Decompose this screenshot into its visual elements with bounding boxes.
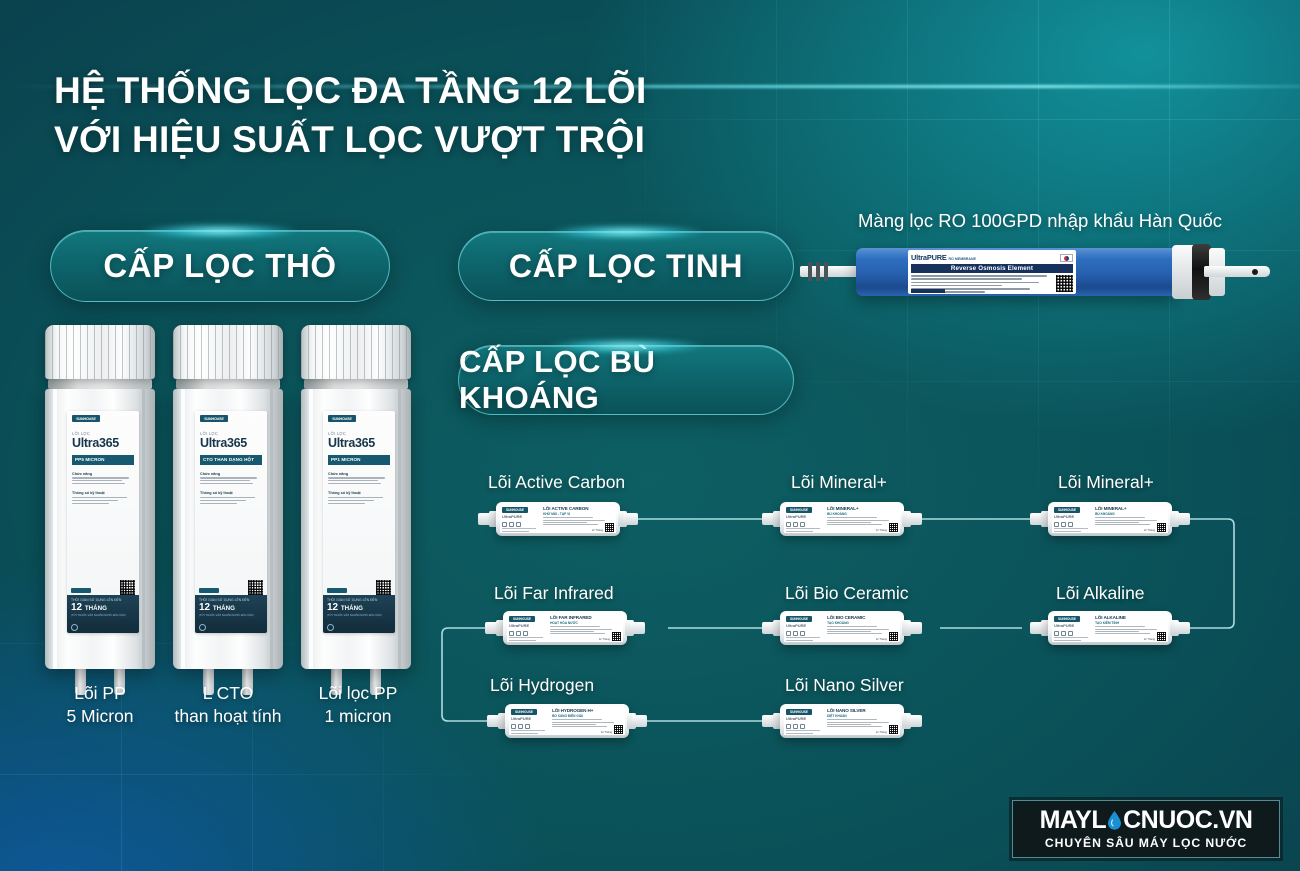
ro-qr-code-icon — [1056, 275, 1073, 292]
housing-caption: Lõi PP 5 Micron — [45, 682, 155, 728]
ro-membrane-caption: Màng lọc RO 100GPD nhập khẩu Hàn Quốc — [858, 210, 1222, 232]
cartridge-name: LÕI MINERAL+ — [827, 507, 898, 512]
cartridge-subtitle: KHỬ MÙI - TẠP VỊ — [543, 512, 614, 516]
cartridge-label: SUNHOUSE UltraPURE LÕI ALKALINE TẠO KIỀM… — [1052, 614, 1168, 642]
cartridge-tip-right — [907, 513, 922, 525]
series-name: UltraPURE — [786, 514, 824, 519]
housing-qr-code-icon — [248, 580, 263, 595]
cartridge-mineral-plus-1: SUNHOUSE UltraPURE LÕI MINERAL+ BÙ KHOÁN… — [762, 502, 922, 536]
cartridge-qr-code-icon — [605, 523, 614, 532]
cartridge-name: LÕI FAR INFRARED — [550, 616, 621, 621]
housing-type-band: PP5 MICRON — [72, 455, 134, 465]
housing-neck — [304, 379, 408, 389]
housing-cartridge: SUNHOUSE LÕI LỌC Ultra365 CTO THAN DẠNG … — [173, 325, 283, 695]
ro-stem-right — [1204, 266, 1270, 277]
warranty-duration: 12 THÁNG — [327, 603, 391, 613]
cartridge-qr-code-icon — [1157, 632, 1166, 641]
ro-label-footer — [911, 289, 945, 293]
warranty-note: (TÙY THUỘC VÀO NGUỒN NƯỚC ĐẦU VÀO) — [199, 614, 263, 617]
cartridge-far-infrared: SUNHOUSE UltraPURE LÕI FAR INFRARED HOẠT… — [485, 611, 645, 645]
sunhouse-brand-badge: SUNHOUSE — [511, 709, 537, 715]
cartridge-label: SUNHOUSE UltraPURE LÕI FAR INFRARED HOẠT… — [507, 614, 623, 642]
housing-body: SUNHOUSE LÕI LỌC Ultra365 PP5 MICRON Chứ… — [45, 389, 155, 669]
cartridge-qr-code-icon — [612, 632, 621, 641]
logo-text-part1: MAYL — [1040, 808, 1107, 833]
series-name: UltraPURE — [786, 623, 824, 628]
cartridge-caption: Lõi Alkaline — [1056, 583, 1145, 604]
cartridge-qr-code-icon — [1157, 523, 1166, 532]
housing-warranty-block: THỜI GIAN SỬ DỤNG LÊN ĐẾN 12 THÁNG (TÙY … — [67, 595, 139, 633]
cartridge-label: SUNHOUSE UltraPURE LÕI BIO CERAMIC TẠO K… — [784, 614, 900, 642]
feature-icon — [525, 724, 530, 729]
series-name: UltraPURE — [509, 623, 547, 628]
cartridge-caption: Lõi Far Infrared — [494, 583, 614, 604]
feature-icon — [793, 724, 798, 729]
housing-caption-line-1: L CTO — [155, 682, 301, 705]
site-logo[interactable]: MAYL CNUOC.VN CHUYÊN SÂU MÁY LỌC NƯỚC — [1012, 800, 1280, 858]
ro-type-bar: Reverse Osmosis Element — [911, 264, 1073, 273]
housing-caption-line-1: Lõi lọc PP — [301, 682, 415, 705]
cartridge-tip-right — [1175, 513, 1190, 525]
cartridge-lifespan: 12 Tháng — [876, 638, 887, 641]
sunhouse-brand-badge: SUNHOUSE — [200, 415, 228, 422]
feature-icon — [800, 724, 805, 729]
cartridge-label: SUNHOUSE UltraPURE LÕI MINERAL+ BÙ KHOÁN… — [784, 505, 900, 533]
housing-warranty-block: THỜI GIAN SỬ DỤNG LÊN ĐẾN 12 THÁNG (TÙY … — [323, 595, 395, 633]
feature-icon — [523, 631, 528, 636]
cartridge-caption: Lõi Hydrogen — [490, 675, 594, 696]
page-title-line-1: HỆ THỐNG LỌC ĐA TẦNG 12 LÕI — [54, 66, 754, 115]
badge-coarse-filtration: CẤP LỌC THÔ — [50, 230, 390, 302]
cartridge-mineral-plus-2: SUNHOUSE UltraPURE LÕI MINERAL+ BÙ KHOÁN… — [1030, 502, 1190, 536]
housing-type-band: PP1 MICRON — [328, 455, 390, 465]
cartridge-bio-ceramic: SUNHOUSE UltraPURE LÕI BIO CERAMIC TẠO K… — [762, 611, 922, 645]
sunhouse-brand-badge: SUNHOUSE — [786, 709, 812, 715]
seal-icon — [71, 624, 78, 631]
series-name: UltraPURE — [1054, 514, 1092, 519]
cartridge-name: LÕI BIO CERAMIC — [827, 616, 898, 621]
cartridge-lifespan: 12 Tháng — [876, 529, 887, 532]
cartridge-tip-right — [907, 622, 922, 634]
series-name: UltraPURE — [786, 716, 824, 721]
cartridge-qr-code-icon — [889, 632, 898, 641]
cartridge-tip-right — [1175, 622, 1190, 634]
warranty-note: (TÙY THUỘC VÀO NGUỒN NƯỚC ĐẦU VÀO) — [71, 614, 135, 617]
cartridge-lifespan: 12 Tháng — [601, 731, 612, 734]
housing-caption: Lõi lọc PP 1 micron — [301, 682, 415, 728]
cartridge-caption: Lõi Nano Silver — [785, 675, 904, 696]
logo-text-part2: CNUOC.VN — [1123, 808, 1252, 833]
housing-neck — [176, 379, 280, 389]
housing-sticker: SUNHOUSE LÕI LỌC Ultra365 PP1 MICRON Chứ… — [323, 411, 395, 633]
cartridge-caption: Lõi Mineral+ — [1058, 472, 1154, 493]
housing-sticker: SUNHOUSE LÕI LỌC Ultra365 CTO THAN DẠNG … — [195, 411, 267, 633]
housing-body: SUNHOUSE LÕI LỌC Ultra365 PP1 MICRON Chứ… — [301, 389, 411, 669]
cartridge-tip-right — [630, 622, 645, 634]
cartridge-lifespan: 12 Tháng — [1144, 638, 1155, 641]
cartridge-name: LÕI HYDROGEN H+ — [552, 709, 623, 714]
warranty-duration: 12 THÁNG — [199, 603, 263, 613]
cartridge-name: LÕI ALKALINE — [1095, 616, 1166, 621]
feature-icon — [786, 724, 791, 729]
cartridge-caption: Lõi Bio Ceramic — [785, 583, 909, 604]
water-drop-icon — [1107, 811, 1122, 830]
feature-icon — [1054, 631, 1059, 636]
feature-icon — [1061, 522, 1066, 527]
cartridge-lifespan: 12 Tháng — [599, 638, 610, 641]
cartridge-lifespan: 12 Tháng — [592, 529, 603, 532]
sunhouse-brand-badge: SUNHOUSE — [786, 507, 812, 513]
badge-coarse-label: CẤP LỌC THÔ — [103, 247, 336, 285]
housing-caption-line-1: Lõi PP — [45, 682, 155, 705]
housing-section-heading-2: Thông số kỹ thuật — [72, 491, 134, 495]
ro-membrane-image: UltraPURE RO MEMBRANE Reverse Osmosis El… — [800, 240, 1270, 302]
wire-right-u-turn — [1190, 519, 1234, 628]
infographic-canvas: HỆ THỐNG LỌC ĐA TẦNG 12 LÕI VỚI HIỆU SUẤ… — [0, 0, 1300, 871]
cartridge-nano-silver: SUNHOUSE UltraPURE LÕI NANO SILVER DIỆT … — [762, 704, 922, 738]
cartridge-caption: Lõi Active Carbon — [488, 472, 625, 493]
feature-icon — [1068, 522, 1073, 527]
housing-type-band: CTO THAN DẠNG HỘT — [200, 455, 262, 465]
cartridge-label: SUNHOUSE UltraPURE LÕI NANO SILVER DIỆT … — [784, 707, 900, 735]
ro-seal-ring — [824, 262, 828, 281]
cartridge-caption: Lõi Mineral+ — [791, 472, 887, 493]
ro-brand: UltraPURE RO MEMBRANE — [911, 253, 976, 262]
cartridge-tip-right — [632, 715, 647, 727]
housing-small-badge — [327, 588, 347, 593]
series-name: UltraPURE — [1054, 623, 1092, 628]
wire-left-u-turn — [442, 628, 487, 721]
feature-icon — [516, 522, 521, 527]
housing-cap — [45, 325, 155, 379]
housing-product-name: Ultra365 — [200, 437, 262, 450]
badge-mineral-label: CẤP LỌC BÙ KHOÁNG — [459, 344, 793, 416]
sunhouse-brand-badge: SUNHOUSE — [72, 415, 100, 422]
sunhouse-brand-badge: SUNHOUSE — [502, 507, 528, 513]
housing-caption-line-2: 1 micron — [301, 705, 415, 728]
feature-icon — [793, 522, 798, 527]
cartridge-name: LÕI MINERAL+ — [1095, 507, 1166, 512]
series-name: UltraPURE — [502, 514, 540, 519]
feature-icon — [800, 522, 805, 527]
feature-icon — [1068, 631, 1073, 636]
housing-section-heading-2: Thông số kỹ thuật — [328, 491, 390, 495]
cartridge-lifespan: 12 Tháng — [876, 731, 887, 734]
feature-icon — [511, 724, 516, 729]
warranty-note: (TÙY THUỘC VÀO NGUỒN NƯỚC ĐẦU VÀO) — [327, 614, 391, 617]
feature-icon — [518, 724, 523, 729]
feature-icon — [516, 631, 521, 636]
feature-icon — [1054, 522, 1059, 527]
housing-caption-line-2: than hoạt tính — [155, 705, 301, 728]
feature-icon — [509, 522, 514, 527]
cartridge-qr-code-icon — [889, 523, 898, 532]
cartridge-label: SUNHOUSE UltraPURE LÕI MINERAL+ BÙ KHOÁN… — [1052, 505, 1168, 533]
sunhouse-brand-badge: SUNHOUSE — [328, 415, 356, 422]
seal-icon — [327, 624, 334, 631]
cartridge-hydrogen: SUNHOUSE UltraPURE LÕI HYDROGEN H+ BỔ SU… — [487, 704, 647, 738]
ro-membrane-label: UltraPURE RO MEMBRANE Reverse Osmosis El… — [908, 250, 1076, 294]
housing-section-heading-1: Chức năng — [72, 472, 134, 476]
cartridge-active-carbon: SUNHOUSE UltraPURE LÕI ACTIVE CARBON KHỬ… — [478, 502, 638, 536]
seal-icon — [199, 624, 206, 631]
feature-icon — [786, 522, 791, 527]
warranty-duration: 12 THÁNG — [71, 603, 135, 613]
housing-small-badge — [71, 588, 91, 593]
housing-product-name: Ultra365 — [328, 437, 390, 450]
badge-fine-filtration: CẤP LỌC TINH — [458, 231, 794, 301]
cartridge-label: SUNHOUSE UltraPURE LÕI HYDROGEN H+ BỔ SU… — [509, 707, 625, 735]
cartridge-subtitle: HOẠT HÓA NƯỚC — [550, 621, 621, 625]
page-title: HỆ THỐNG LỌC ĐA TẦNG 12 LÕI VỚI HIỆU SUẤ… — [54, 66, 754, 164]
housing-small-badge — [199, 588, 219, 593]
cartridge-qr-code-icon — [614, 725, 623, 734]
logo-wordmark: MAYL CNUOC.VN — [1040, 808, 1253, 833]
feature-icon — [786, 631, 791, 636]
housing-section-heading-1: Chức năng — [328, 472, 390, 476]
housing-cap — [173, 325, 283, 379]
cartridge-alkaline: SUNHOUSE UltraPURE LÕI ALKALINE TẠO KIỀM… — [1030, 611, 1190, 645]
cartridge-lifespan: 12 Tháng — [1144, 529, 1155, 532]
cartridge-tip-right — [623, 513, 638, 525]
badge-mineral-filtration: CẤP LỌC BÙ KHOÁNG — [458, 345, 794, 415]
sunhouse-brand-badge: SUNHOUSE — [786, 616, 812, 622]
ro-seal-ring — [816, 262, 820, 281]
feature-icon — [502, 522, 507, 527]
cartridge-subtitle: TẠO KHOÁNG — [827, 621, 898, 625]
page-title-line-2: VỚI HIỆU SUẤT LỌC VƯỢT TRỘI — [54, 115, 754, 164]
sunhouse-brand-badge: SUNHOUSE — [509, 616, 535, 622]
housing-sticker: SUNHOUSE LÕI LỌC Ultra365 PP5 MICRON Chứ… — [67, 411, 139, 633]
cartridge-name: LÕI NANO SILVER — [827, 709, 898, 714]
cartridge-subtitle: TẠO KIỀM TÍNH — [1095, 621, 1166, 625]
housing-product-name: Ultra365 — [72, 437, 134, 450]
housing-section-heading-1: Chức năng — [200, 472, 262, 476]
logo-tagline: CHUYÊN SÂU MÁY LỌC NƯỚC — [1045, 836, 1247, 850]
feature-icon — [509, 631, 514, 636]
cartridge-subtitle: DIỆT KHUẨN — [827, 714, 898, 718]
housing-cap — [301, 325, 411, 379]
housing-cartridge: SUNHOUSE LÕI LỌC Ultra365 PP5 MICRON Chứ… — [45, 325, 155, 695]
housing-section-heading-2: Thông số kỹ thuật — [200, 491, 262, 495]
badge-fine-label: CẤP LỌC TINH — [509, 248, 743, 285]
cartridge-label: SUNHOUSE UltraPURE LÕI ACTIVE CARBON KHỬ… — [500, 505, 616, 533]
housing-qr-code-icon — [120, 580, 135, 595]
housing-caption-line-2: 5 Micron — [45, 705, 155, 728]
housing-caption: L CTO than hoạt tính — [155, 682, 301, 728]
feature-icon — [1061, 631, 1066, 636]
housing-body: SUNHOUSE LÕI LỌC Ultra365 CTO THAN DẠNG … — [173, 389, 283, 669]
cartridge-subtitle: BÙ KHOÁNG — [827, 512, 898, 516]
cartridge-qr-code-icon — [889, 725, 898, 734]
housing-cartridge: SUNHOUSE LÕI LỌC Ultra365 PP1 MICRON Chứ… — [301, 325, 411, 695]
sunhouse-brand-badge: SUNHOUSE — [1054, 507, 1080, 513]
feature-icon — [800, 631, 805, 636]
feature-icon — [793, 631, 798, 636]
ro-seal-ring — [808, 262, 812, 281]
korea-flag-icon — [1060, 254, 1073, 262]
housing-neck — [48, 379, 152, 389]
cartridge-subtitle: BÙ KHOÁNG — [1095, 512, 1166, 516]
sunhouse-brand-badge: SUNHOUSE — [1054, 616, 1080, 622]
housing-warranty-block: THỜI GIAN SỬ DỤNG LÊN ĐẾN 12 THÁNG (TÙY … — [195, 595, 267, 633]
cartridge-tip-right — [907, 715, 922, 727]
cartridge-name: LÕI ACTIVE CARBON — [543, 507, 614, 512]
series-name: UltraPURE — [511, 716, 549, 721]
housing-qr-code-icon — [376, 580, 391, 595]
cartridge-subtitle: BỔ SUNG ĐIỆN GIẢI — [552, 714, 623, 718]
